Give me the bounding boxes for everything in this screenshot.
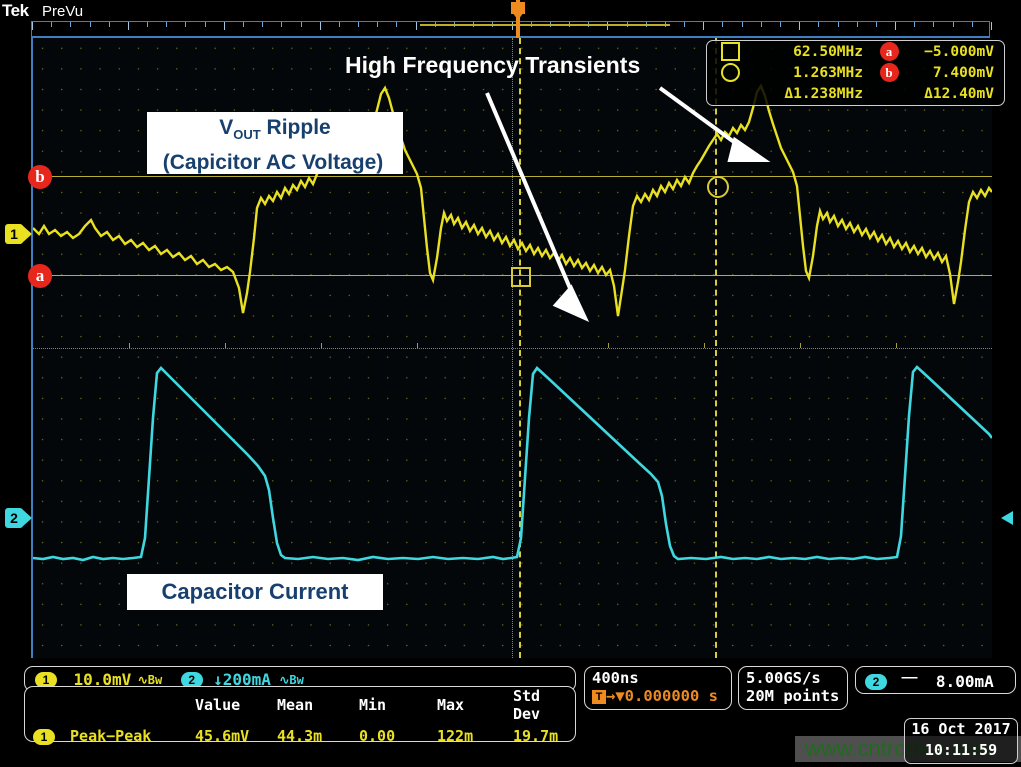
measurement-name[interactable]: 1 Peak−Peak — [25, 723, 195, 749]
ch2-current-trace — [33, 367, 992, 560]
ch1-position-marker[interactable]: 1 — [5, 224, 31, 244]
capacitor-current-label: Capacitor Current — [127, 574, 383, 610]
transients-annotation: High Frequency Transients — [345, 52, 640, 79]
circle-cursor-icon — [707, 62, 753, 83]
delta-frequency: Δ1.238MHz — [753, 84, 871, 105]
trigger-position-badge: T — [592, 690, 606, 704]
timestamp-date: 16 Oct 2017 — [905, 719, 1017, 740]
measurement-mean: 44.3m — [277, 723, 359, 749]
cursor-b-voltage: 7.400mV — [907, 62, 1004, 83]
table-row: 1 Peak−Peak 45.6mV 44.3m 0.00 122m 19.7m — [25, 723, 575, 749]
col-value: Value — [195, 687, 277, 723]
acquisition-panel[interactable]: 5.00GS/s 20M points — [738, 666, 848, 710]
cursor-b-marker[interactable]: b — [28, 165, 52, 189]
sample-rate: 5.00GS/s — [739, 667, 847, 687]
square-cursor-frequency: 62.50MHz — [753, 41, 871, 62]
cursor-b-badge: b — [871, 62, 907, 83]
col-stddev: Std Dev — [513, 687, 575, 723]
timestamp-time: 10:11:59 — [905, 740, 1017, 761]
measurement-max: 122m — [437, 723, 513, 749]
trigger-level-bar — [420, 24, 670, 26]
trigger-level: 8.00mA — [922, 672, 994, 691]
cursor-a-marker[interactable]: a — [28, 264, 52, 288]
ch2-coupling-icon: ∿Bw — [275, 673, 304, 687]
ch2-right-edge-arrow — [1001, 511, 1013, 525]
col-max: Max — [437, 687, 513, 723]
square-cursor-icon — [707, 41, 753, 62]
prevu-status: PreVu — [42, 3, 83, 20]
cursor-readout-panel: 62.50MHz a −5.000mV 1.263MHz b 7.400mV Δ… — [706, 40, 1005, 106]
falling-edge-icon: ⎻ — [891, 671, 917, 690]
vout-ripple-line1: VOUT Ripple — [147, 112, 403, 149]
measurement-min: 0.00 — [359, 723, 437, 749]
circle-cursor-frequency: 1.263MHz — [753, 62, 871, 83]
measurement-header-row: Value Mean Min Max Std Dev — [25, 687, 575, 723]
col-mean: Mean — [277, 687, 359, 723]
tek-logo: Tek — [2, 1, 29, 21]
trigger-source-chip: 2 — [865, 674, 887, 690]
timebase-panel[interactable]: 400ns T→▼0.000000 s — [584, 666, 732, 710]
cursor-a-voltage: −5.000mV — [907, 41, 1004, 62]
trigger-panel[interactable]: 2 ⎻ 8.00mA — [855, 666, 1016, 694]
timestamp-panel: 16 Oct 2017 10:11:59 — [904, 718, 1018, 764]
col-min: Min — [359, 687, 437, 723]
measurement-panel: Value Mean Min Max Std Dev 1 Peak−Peak 4… — [24, 686, 576, 742]
vout-ripple-line2: (Capicitor AC Voltage) — [143, 149, 403, 177]
measurement-chip: 1 — [33, 729, 55, 745]
ch2-position-marker[interactable]: 2 — [5, 508, 31, 528]
measurement-stddev: 19.7m — [513, 723, 575, 749]
measurement-value: 45.6mV — [195, 723, 277, 749]
ch1-coupling-icon: ∿Bw — [136, 673, 163, 687]
vout-ripple-callout: VOUT Ripple (Capicitor AC Voltage) — [147, 112, 403, 174]
trigger-position-marker[interactable] — [511, 0, 525, 40]
record-length: 20M points — [739, 687, 847, 705]
timebase-scale: 400ns — [585, 667, 731, 687]
cursor-a-badge: a — [871, 41, 907, 62]
capacitor-current-callout: Capacitor Current — [127, 574, 383, 610]
oscilloscope-screen: Tek PreVu T — [0, 0, 1021, 767]
timebase-position: →▼0.000000 s — [606, 687, 718, 705]
delta-voltage: Δ12.40mV — [907, 84, 1004, 105]
